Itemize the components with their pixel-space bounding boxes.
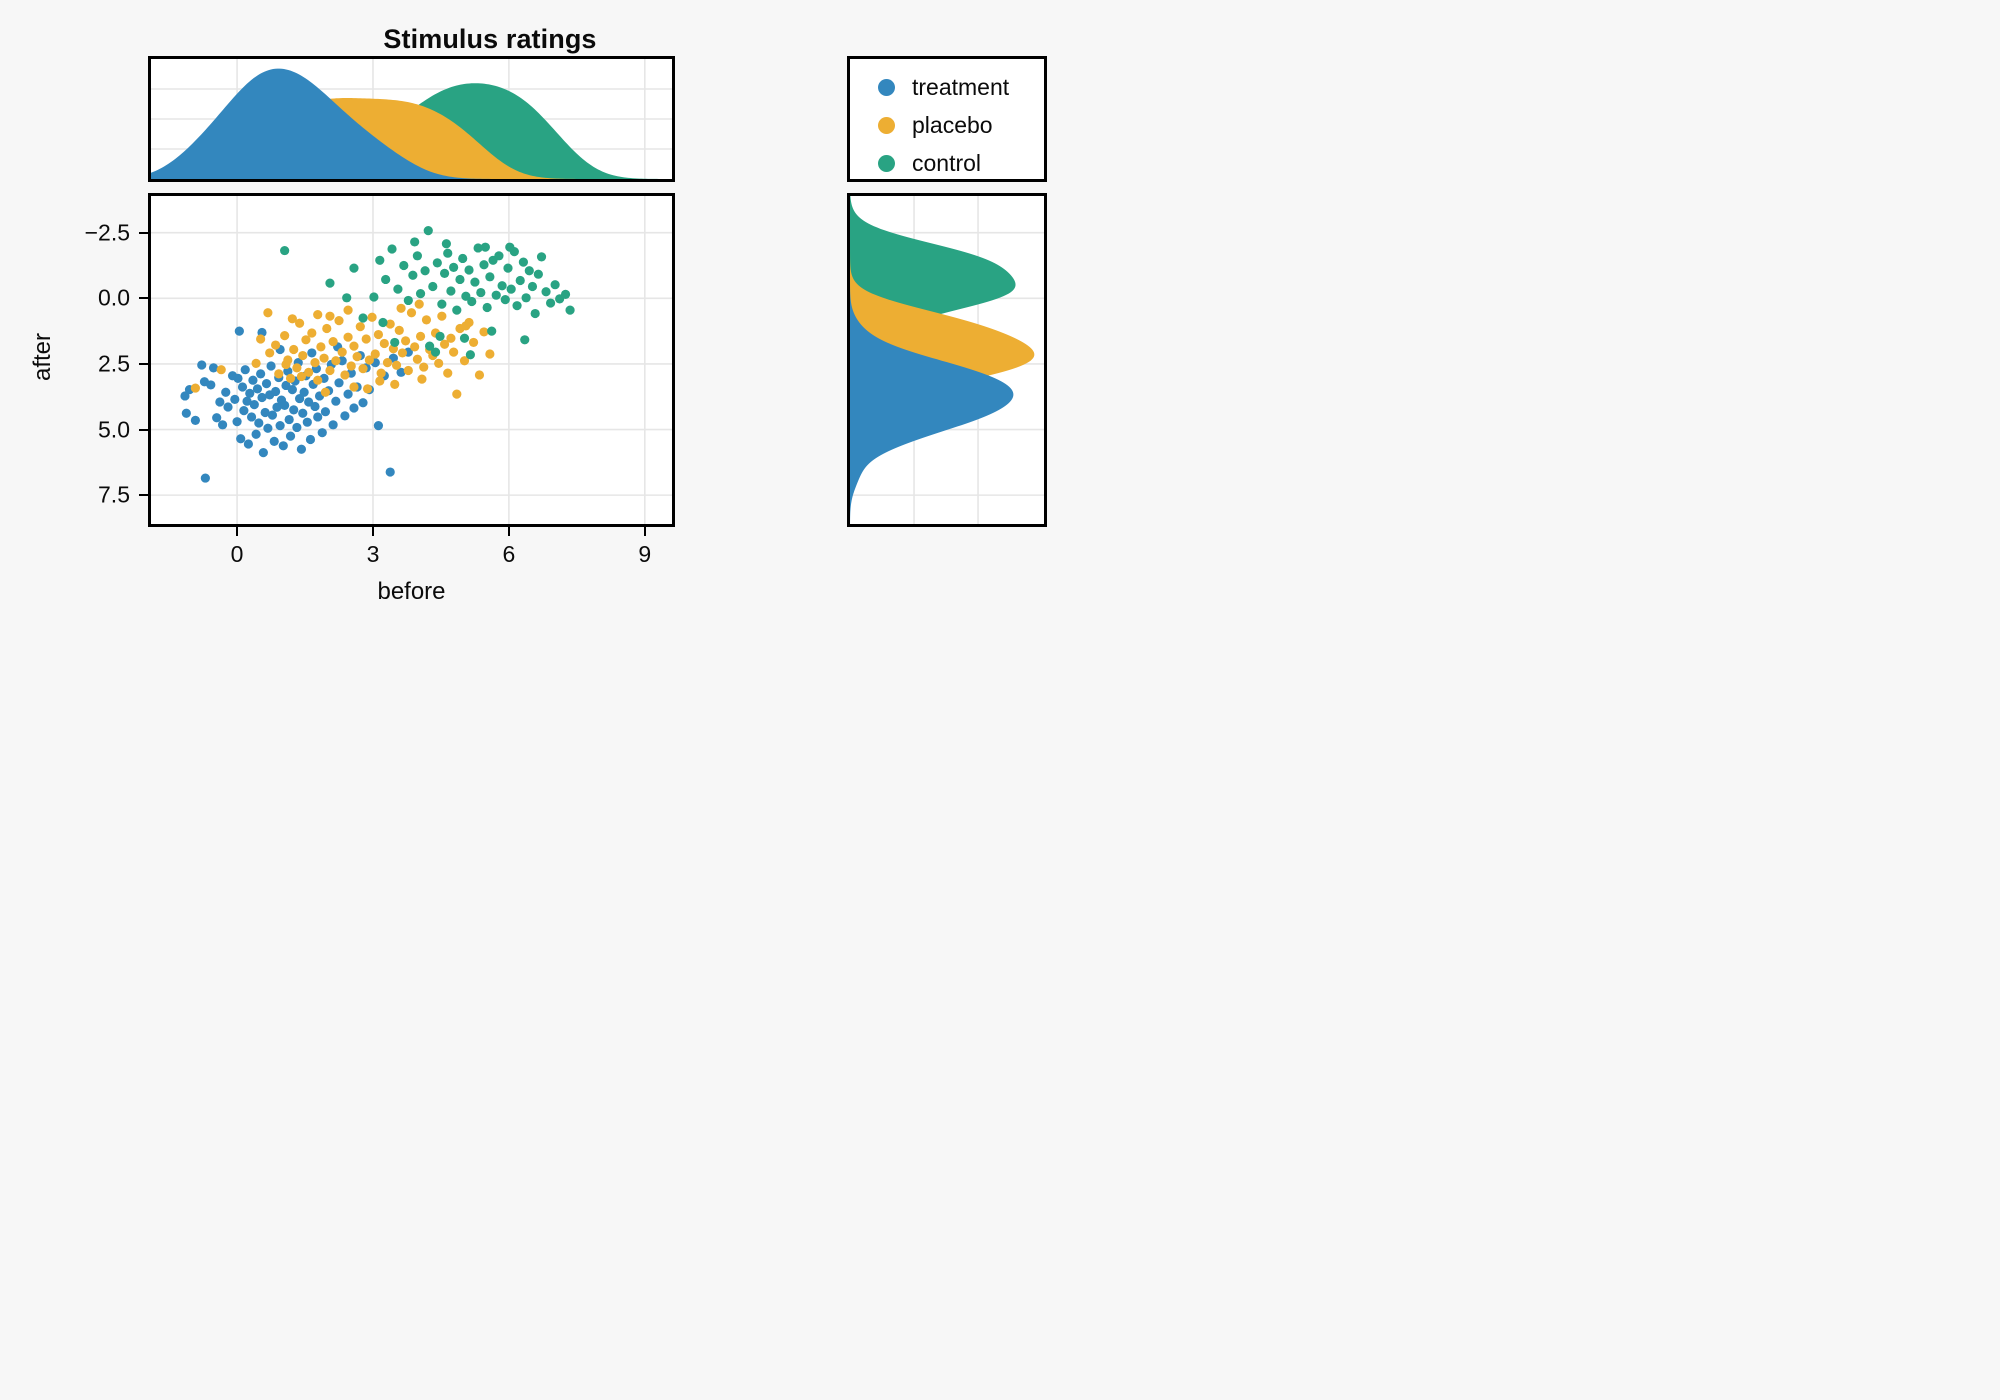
- x-tick-label: 6: [469, 541, 549, 568]
- y-tick-label: −2.5: [52, 219, 130, 246]
- legend-swatch-control: [878, 155, 895, 172]
- page-title: Stimulus ratings: [150, 24, 830, 55]
- x-axis-label: before: [148, 578, 675, 606]
- x-tick-label: 9: [605, 541, 685, 568]
- y-tick-label: 5.0: [52, 416, 130, 443]
- y-tick-mark: [139, 297, 148, 299]
- x-tick-label: 3: [333, 541, 413, 568]
- figure-root: Stimulus ratings treatment placebo contr…: [0, 0, 2000, 1400]
- y-tick-mark: [139, 494, 148, 496]
- legend-swatch-treatment: [878, 79, 895, 96]
- x-tick-mark: [644, 527, 646, 536]
- y-tick-label: 7.5: [52, 482, 130, 509]
- right-density-chart: [850, 196, 1044, 524]
- y-axis-label: after: [29, 297, 57, 417]
- x-tick-label: 0: [197, 541, 277, 568]
- scatter-series-control: [280, 226, 575, 359]
- legend-item-control[interactable]: control: [878, 152, 981, 175]
- top-density-chart: [151, 59, 672, 179]
- legend-item-placebo[interactable]: placebo: [878, 114, 993, 137]
- x-tick-mark: [508, 527, 510, 536]
- scatter-chart: [151, 196, 672, 524]
- scatter-plot-panel: [148, 193, 675, 527]
- y-tick-mark: [139, 429, 148, 431]
- legend-swatch-placebo: [878, 117, 895, 134]
- legend-label-placebo: placebo: [912, 114, 993, 137]
- y-tick-mark: [139, 363, 148, 365]
- y-tick-label: 0.0: [52, 285, 130, 312]
- x-tick-mark: [372, 527, 374, 536]
- legend: treatment placebo control: [847, 56, 1047, 182]
- legend-label-treatment: treatment: [912, 76, 1009, 99]
- legend-item-treatment[interactable]: treatment: [878, 76, 1009, 99]
- y-tick-mark: [139, 232, 148, 234]
- x-tick-mark: [236, 527, 238, 536]
- y-tick-label: 2.5: [52, 350, 130, 377]
- top-marginal-density-panel: [148, 56, 675, 182]
- right-marginal-density-panel: [847, 193, 1047, 527]
- legend-label-control: control: [912, 152, 981, 175]
